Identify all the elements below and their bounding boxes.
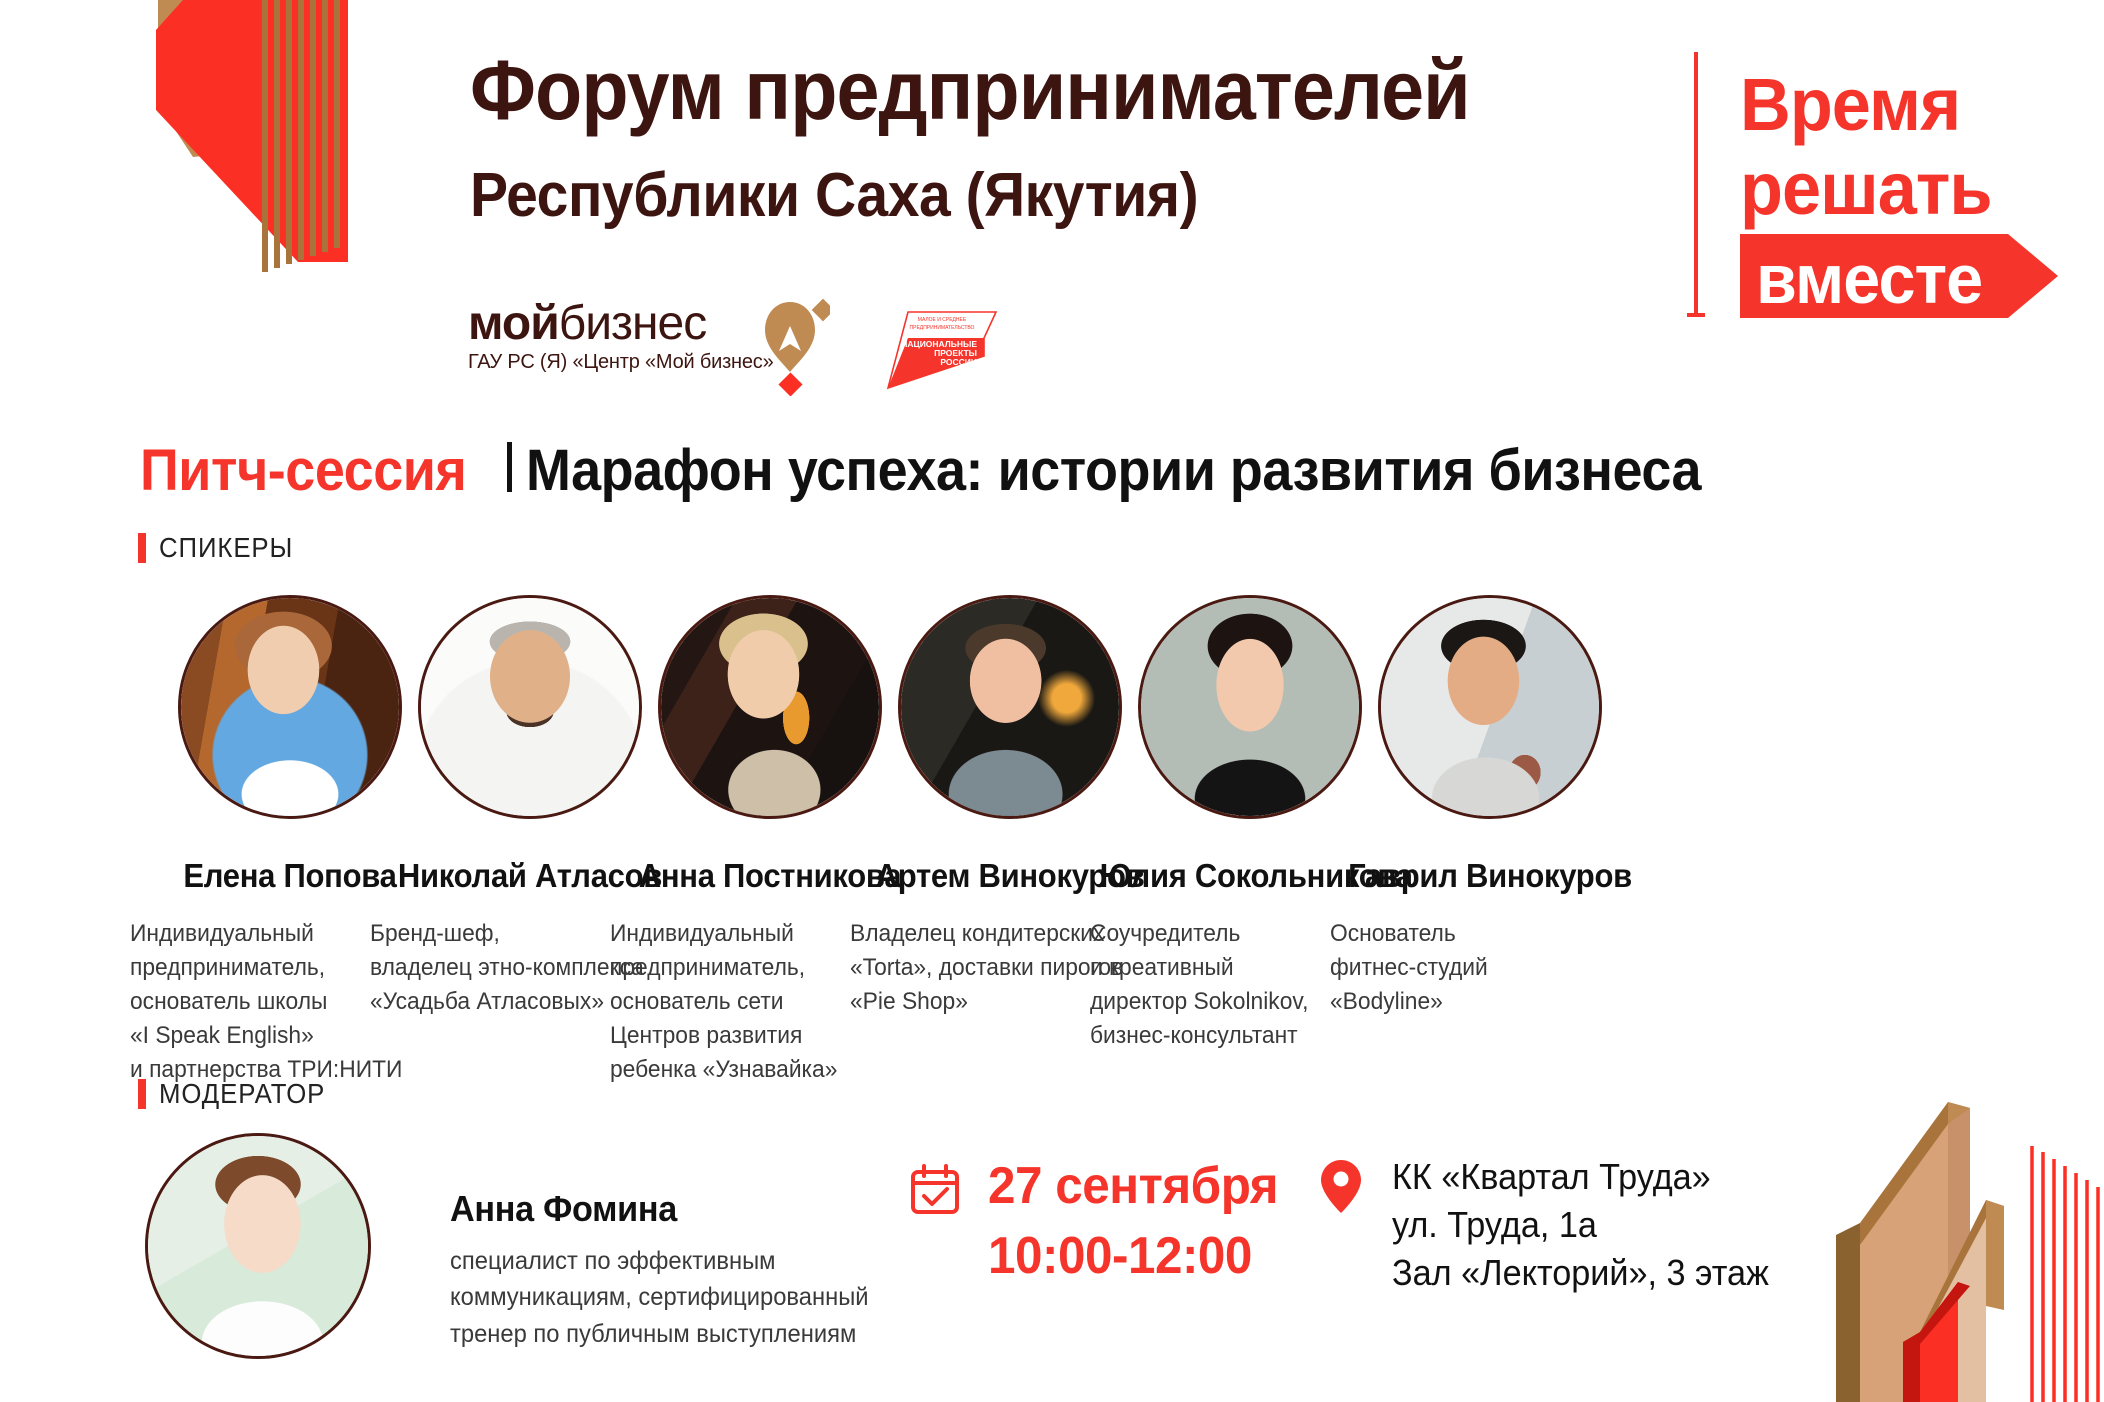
red-tick-icon [138, 533, 146, 563]
session-kicker: Питч-сессия [140, 442, 466, 500]
mybusiness-wordmark: мойбизнес [468, 300, 798, 348]
speaker-photo-anna-postnikova [658, 595, 882, 819]
speakers-row: Елена Попова Индивидуальный предпринимат… [130, 595, 2070, 1035]
moderator-role: специалист по эффективным коммуникациям,… [450, 1243, 869, 1352]
mybusiness-word-bold: мой [468, 297, 559, 350]
speaker-photo-elena-popova [178, 595, 402, 819]
poster-canvas: Форум предпринимателей Республики Саха (… [0, 0, 2104, 1402]
map-pin-icon [1320, 1159, 1362, 1215]
event-time: 10:00-12:00 [988, 1230, 1252, 1282]
event-date: 27 сентября [988, 1160, 1278, 1212]
mybusiness-word-light: бизнес [559, 297, 707, 350]
speakers-label-text: СПИКЕРЫ [159, 532, 293, 564]
session-topic: Марафон успеха: истории развития бизнеса [526, 442, 1701, 500]
speaker-photo-artem-vinokurov [898, 595, 1122, 819]
mybusiness-logo: мойбизнес ГАУ РС (Я) «Центр «Мой бизнес» [468, 300, 798, 392]
slogan-block: Время решать вместе [1694, 32, 2094, 332]
svg-text:РОССИИ: РОССИИ [940, 357, 977, 367]
house-decoration [1798, 1060, 2104, 1402]
slogan-line1: Время [1740, 68, 1960, 142]
speaker-card-6: Гаврил Винокуров Основатель фитнес-студи… [1330, 595, 1650, 1019]
slogan-line3: вместе [1756, 244, 1982, 314]
mybusiness-subtitle: ГАУ РС (Я) «Центр «Мой бизнес» [468, 352, 798, 372]
event-venue-text: КК «Квартал Труда» ул. Труда, 1а Зал «Ле… [1392, 1153, 1769, 1298]
forum-title-line2: Республики Саха (Якутия) [470, 165, 1537, 227]
rocket-pin-icon [760, 296, 830, 396]
speaker-name: Гаврил Винокуров [1340, 857, 1641, 895]
speaker-role: Основатель фитнес-студий «Bodyline» [1330, 917, 1634, 1019]
moderator-label-text: МОДЕРАТОР [159, 1078, 325, 1110]
moderator-section-label: МОДЕРАТОР [138, 1078, 340, 1110]
forum-title-line1: Форум предпринимателей [470, 48, 1537, 132]
speakers-section-label: СПИКЕРЫ [138, 532, 305, 564]
speaker-photo-yuliya-sokolnikova [1138, 595, 1362, 819]
natprojects-logo: МАЛОЕ И СРЕДНЕЕ ПРЕДПРИНИМАТЕЛЬСТВО НАЦИ… [880, 308, 1000, 394]
moderator-name: Анна Фомина [450, 1188, 677, 1230]
speaker-photo-gavril-vinokurov [1378, 595, 1602, 819]
svg-text:МАЛОЕ И СРЕДНЕЕ: МАЛОЕ И СРЕДНЕЕ [918, 317, 967, 323]
moderator-photo-anna-fomina [145, 1133, 371, 1359]
svg-text:ПРЕДПРИНИМАТЕЛЬСТВО: ПРЕДПРИНИМАТЕЛЬСТВО [910, 325, 975, 331]
session-heading: Питч-сессияМарафон успеха: истории разви… [140, 442, 1790, 500]
slogan-vertical-rule [1694, 52, 1698, 314]
slogan-line2: решать [1740, 152, 1992, 226]
session-divider [507, 442, 512, 492]
forum-logo-mark [48, 0, 348, 322]
speaker-photo-nikolay-atlasov [418, 595, 642, 819]
red-tick-icon [138, 1079, 146, 1109]
calendar-check-icon [910, 1164, 960, 1216]
